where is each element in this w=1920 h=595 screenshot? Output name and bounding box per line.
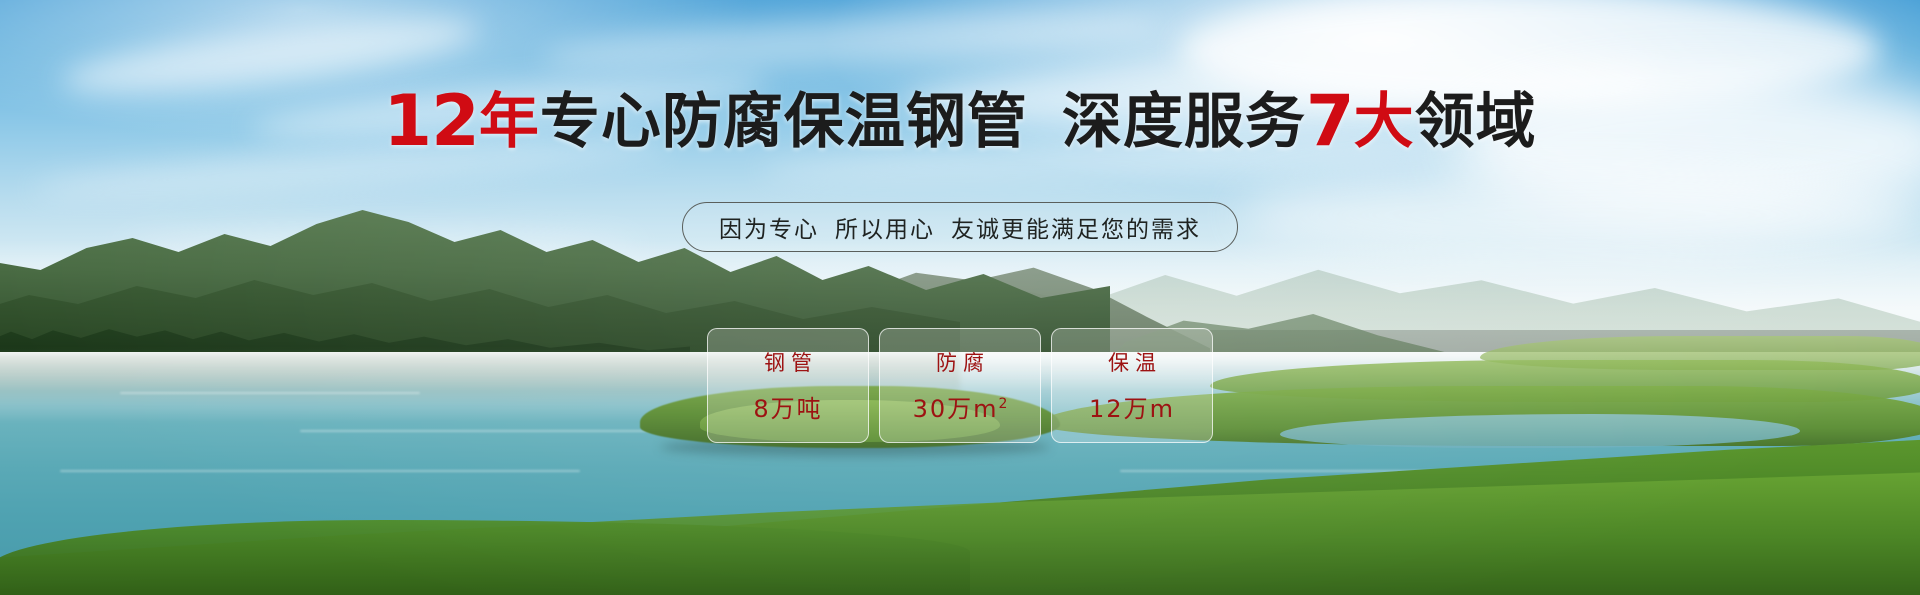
- hero-banner: 12年专心防腐保温钢管深度服务7大领域 因为专心 所以用心 友诚更能满足您的需求…: [0, 0, 1920, 595]
- stat-card-insulation[interactable]: 保温 12万m: [1051, 328, 1213, 443]
- headline-years-number: 12: [383, 80, 478, 162]
- stat-card-value: 30万m2: [913, 389, 1008, 424]
- stat-card-value-text: 12万m: [1089, 395, 1175, 423]
- headline-seven-number: 7: [1306, 80, 1354, 162]
- stat-card-list: 钢管 8万吨 防腐 30万m2 保温 12万m: [707, 328, 1213, 443]
- headline-fields: 领域: [1415, 87, 1537, 157]
- headline-years-unit: 年: [479, 87, 540, 157]
- stat-card-title: 保温: [1102, 347, 1162, 377]
- slogan-part-3: 友诚更能满足您的需求: [951, 210, 1201, 244]
- stat-card-steel-pipe[interactable]: 钢管 8万吨: [707, 328, 869, 443]
- slogan-pill: 因为专心 所以用心 友诚更能满足您的需求: [682, 202, 1238, 252]
- stat-card-value-text: 8万吨: [753, 395, 822, 423]
- stat-card-value-text: 30万m: [913, 395, 999, 423]
- slogan-part-1: 因为专心: [719, 210, 819, 244]
- banner-headline: 12年专心防腐保温钢管深度服务7大领域: [0, 86, 1920, 156]
- headline-main: 专心防腐保温钢管: [540, 87, 1028, 157]
- stat-card-value-superscript: 2: [999, 396, 1008, 412]
- slogan-part-2: 所以用心: [835, 210, 935, 244]
- stat-card-value: 12万m: [1089, 389, 1175, 424]
- headline-service: 深度服务: [1062, 87, 1306, 157]
- stat-card-anticorrosion[interactable]: 防腐 30万m2: [879, 328, 1041, 443]
- banner-content: 12年专心防腐保温钢管深度服务7大领域 因为专心 所以用心 友诚更能满足您的需求…: [0, 0, 1920, 595]
- stat-card-title: 防腐: [930, 347, 990, 377]
- headline-big: 大: [1354, 87, 1415, 157]
- stat-card-value: 8万吨: [753, 389, 822, 424]
- stat-card-title: 钢管: [758, 347, 818, 377]
